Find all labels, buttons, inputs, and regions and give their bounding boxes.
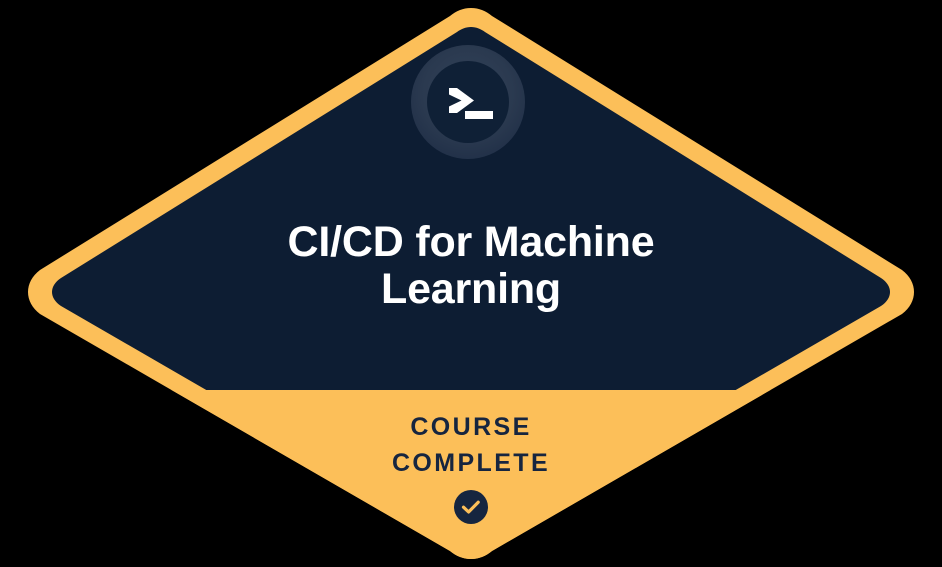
badge-canvas: CI/CD for Machine Learning COURSE COMPLE… — [0, 0, 942, 567]
badge-inner-face-group — [0, 27, 942, 567]
badge-vector — [0, 0, 942, 567]
diamond-badge-shape — [0, 0, 942, 567]
badge-lower-amber-half — [0, 390, 942, 567]
